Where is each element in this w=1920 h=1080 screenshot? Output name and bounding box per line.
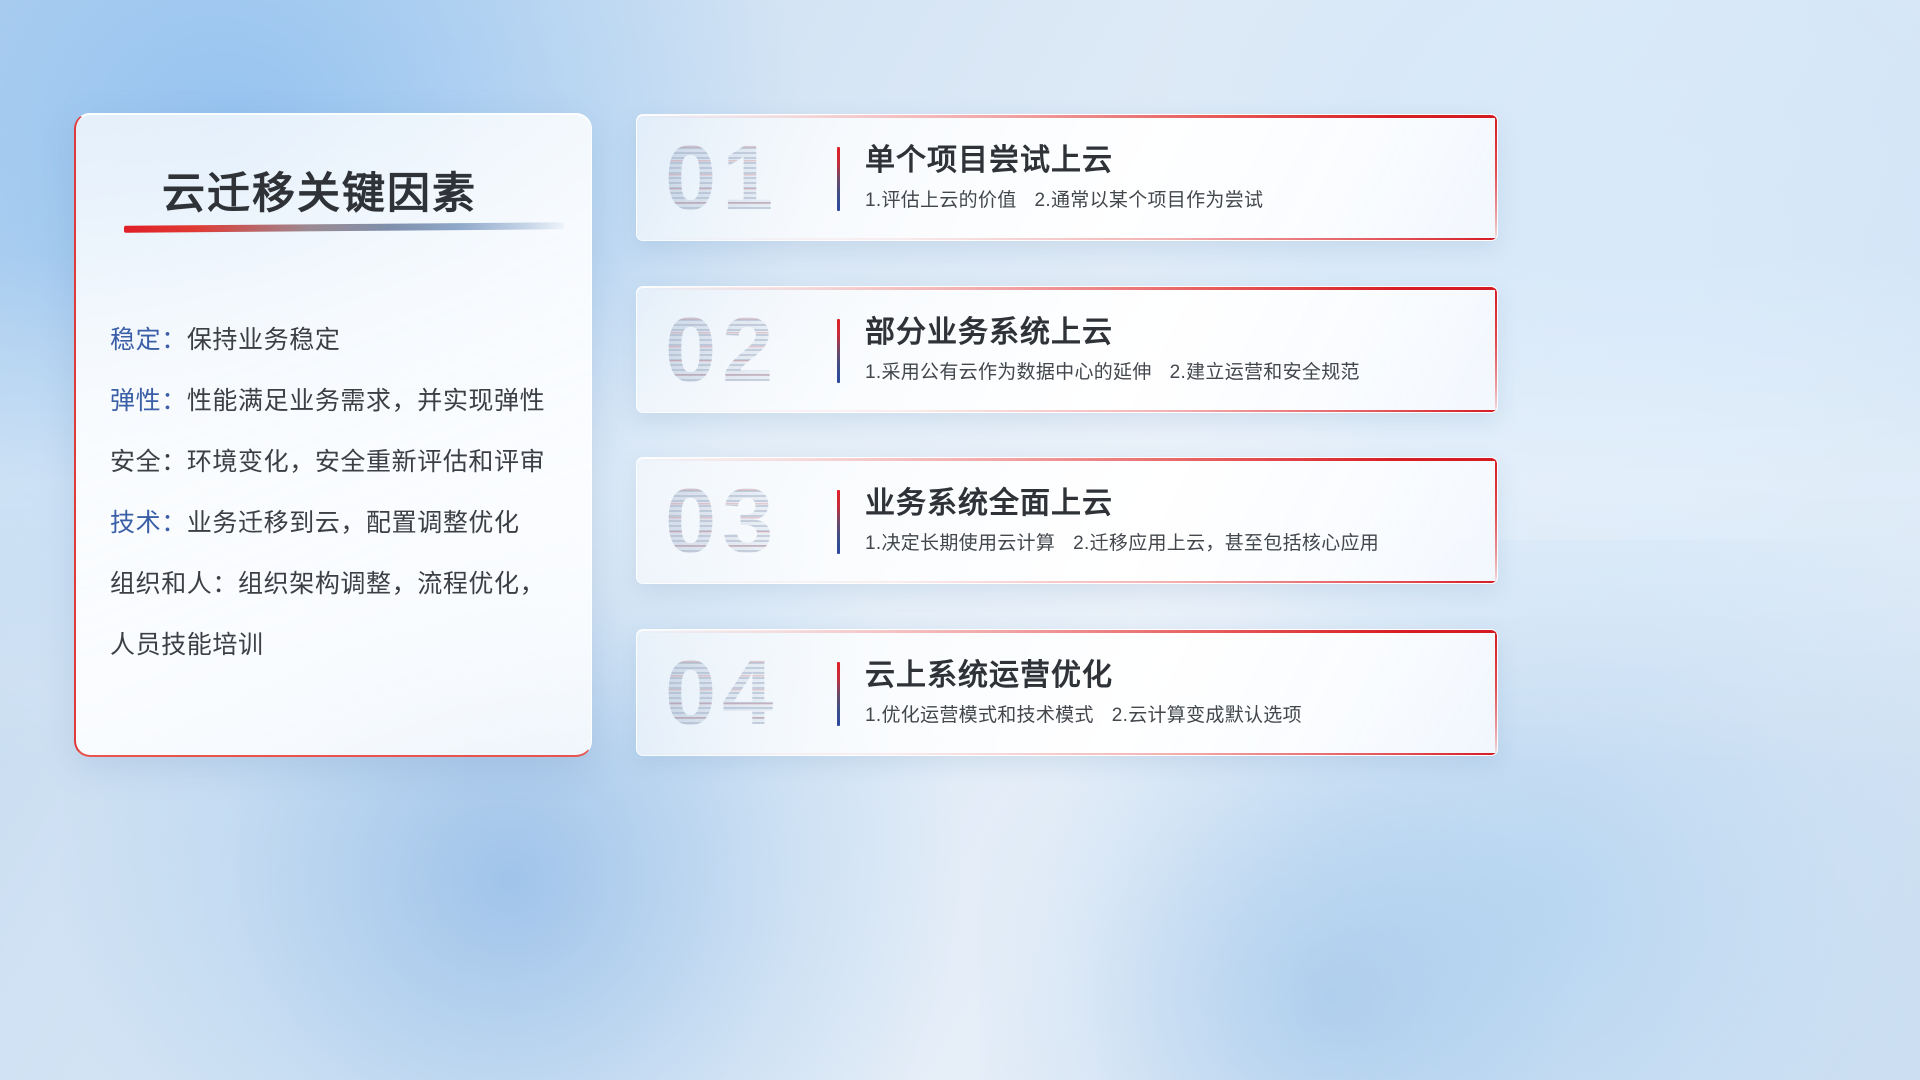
card-point-2: 2.通常以某个项目作为尝试 [1035, 190, 1264, 211]
card-right-accent-line [1495, 458, 1498, 583]
card-top-accent-line [637, 287, 1497, 290]
card-bottom-accent-line [637, 753, 1497, 755]
list-item-label: 技术： [110, 509, 187, 537]
card-right-accent-line [1495, 287, 1498, 412]
list-item-text: 保持业务稳定 [187, 326, 341, 354]
card-point-1: 1.优化运营模式和技术模式 [865, 705, 1094, 726]
card-title: 云上系统运营优化 [865, 656, 1477, 696]
list-item-label: 组织和人： [110, 570, 238, 598]
list-item: 安全：环境变化，安全重新评估和评审 [110, 432, 580, 493]
card-top-accent-line [637, 115, 1497, 118]
list-item: 稳定：保持业务稳定 [110, 310, 580, 371]
card-point-1: 1.决定长期使用云计算 [865, 533, 1055, 554]
card-divider-bar [837, 662, 840, 726]
card-bottom-accent-line [637, 238, 1497, 240]
card-description: 1.决定长期使用云计算2.迁移应用上云，甚至包括核心应用 [865, 531, 1477, 557]
card-title: 部分业务系统上云 [865, 313, 1477, 353]
card-divider-bar [837, 319, 840, 383]
card-description: 1.优化运营模式和技术模式2.云计算变成默认选项 [865, 703, 1477, 729]
list-item: 弹性：性能满足业务需求，并实现弹性 [110, 371, 580, 432]
card-number-glyph-tint: 01 [665, 132, 779, 224]
card-number-glyph-tint: 03 [665, 475, 779, 567]
card-point-1: 1.评估上云的价值 [865, 190, 1017, 211]
card-right-accent-line [1495, 115, 1498, 240]
card-divider-bar [837, 490, 840, 554]
card-title: 单个项目尝试上云 [865, 141, 1477, 181]
card-top-accent-line [637, 630, 1497, 633]
page-title: 云迁移关键因素 [162, 159, 477, 221]
card-bottom-accent-line [637, 410, 1497, 412]
list-item-label: 稳定： [110, 326, 187, 354]
card-title: 业务系统全面上云 [865, 484, 1477, 524]
card-number-glyph-tint: 02 [665, 304, 779, 396]
card-number-glyph-tint: 04 [665, 647, 779, 739]
title-underline-bar [124, 222, 564, 232]
card-point-2: 2.建立运营和安全规范 [1170, 362, 1360, 383]
card-point-2: 2.迁移应用上云，甚至包括核心应用 [1073, 533, 1379, 554]
card-description: 1.采用公有云作为数据中心的延伸2.建立运营和安全规范 [865, 360, 1477, 386]
list-item: 人员技能培训 [110, 615, 580, 676]
card-right-accent-line [1495, 630, 1498, 755]
list-item-text: 环境变化，安全重新评估和评审 [187, 448, 545, 476]
card-point-2: 2.云计算变成默认选项 [1112, 705, 1302, 726]
key-factors-panel: 云迁移关键因素 稳定：保持业务稳定 弹性：性能满足业务需求，并实现弹性 安全：环… [74, 113, 592, 757]
card-point-1: 1.采用公有云作为数据中心的延伸 [865, 362, 1152, 383]
stage-card-04[interactable]: 04 04 云上系统运营优化 1.优化运营模式和技术模式2.云计算变成默认选项 [636, 629, 1498, 756]
list-item-text: 性能满足业务需求，并实现弹性 [187, 387, 545, 415]
card-bottom-accent-line [637, 581, 1497, 583]
slide-content: 云迁移关键因素 稳定：保持业务稳定 弹性：性能满足业务需求，并实现弹性 安全：环… [0, 0, 1920, 1080]
list-item-text: 人员技能培训 [110, 631, 264, 659]
list-item: 组织和人：组织架构调整，流程优化， [110, 554, 580, 615]
list-item-text: 业务迁移到云，配置调整优化 [187, 509, 520, 537]
card-top-accent-line [637, 458, 1497, 461]
list-item-label: 安全： [110, 448, 187, 476]
key-factors-list: 稳定：保持业务稳定 弹性：性能满足业务需求，并实现弹性 安全：环境变化，安全重新… [110, 310, 580, 676]
stage-card-02[interactable]: 02 02 部分业务系统上云 1.采用公有云作为数据中心的延伸2.建立运营和安全… [636, 286, 1498, 413]
stage-card-03[interactable]: 03 03 业务系统全面上云 1.决定长期使用云计算2.迁移应用上云，甚至包括核… [636, 457, 1498, 584]
stage-card-01[interactable]: 01 01 单个项目尝试上云 1.评估上云的价值2.通常以某个项目作为尝试 [636, 114, 1498, 241]
list-item: 技术：业务迁移到云，配置调整优化 [110, 493, 580, 554]
card-description: 1.评估上云的价值2.通常以某个项目作为尝试 [865, 188, 1477, 214]
list-item-text: 组织架构调整，流程优化， [238, 570, 545, 598]
card-divider-bar [837, 147, 840, 211]
list-item-label: 弹性： [110, 387, 187, 415]
